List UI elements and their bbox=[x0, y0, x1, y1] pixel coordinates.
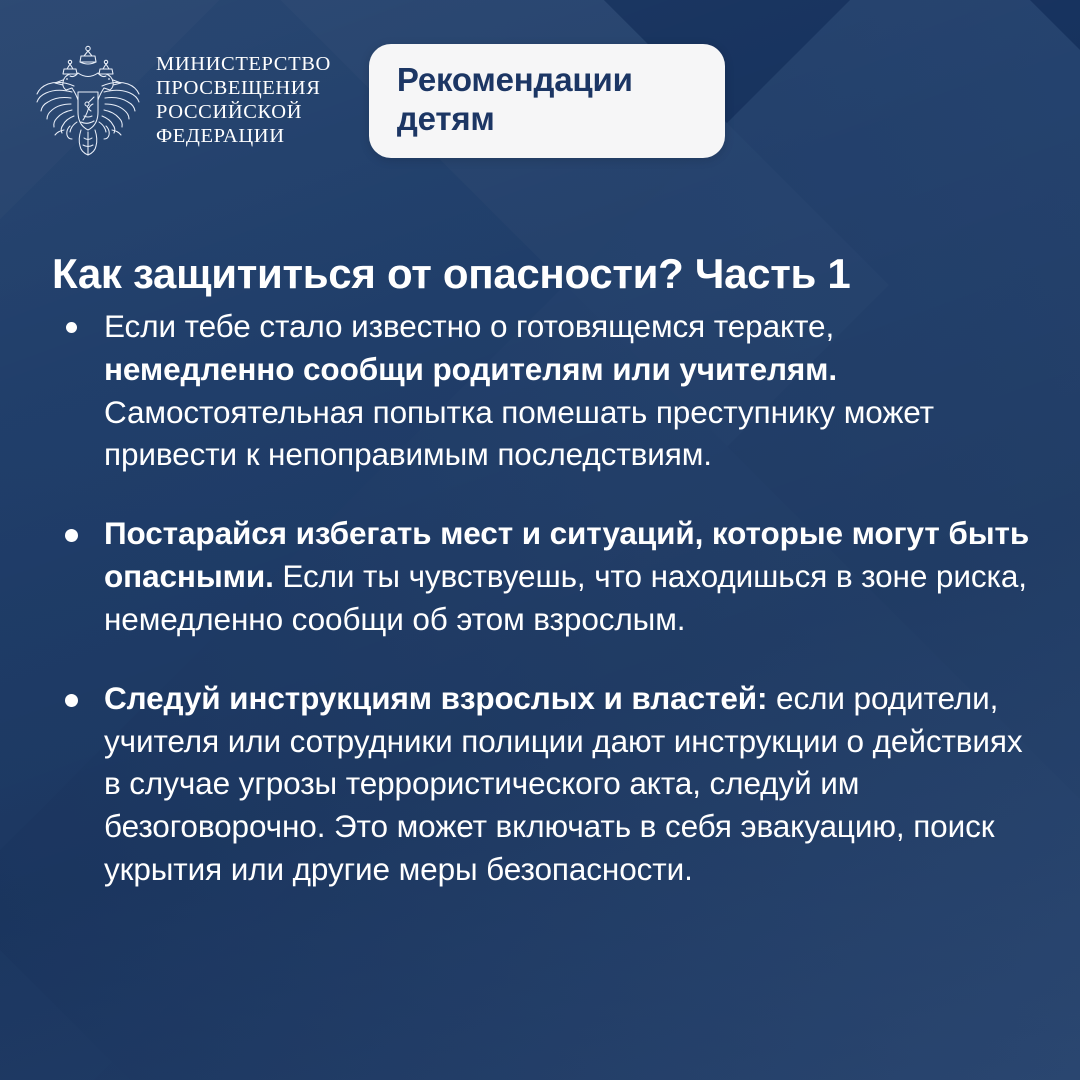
recommendations-list: Если тебе стало известно о готовящемся т… bbox=[52, 305, 1032, 891]
double-headed-eagle-emblem-icon bbox=[34, 42, 142, 160]
ministry-name-line-3: Российской bbox=[156, 101, 331, 125]
category-badge-label: Рекомендации детям bbox=[397, 61, 697, 138]
list-item: Следуй инструкциям взрослых и властей: е… bbox=[52, 677, 1032, 891]
poster-header: Министерство Просвещения Российской Феде… bbox=[34, 36, 1046, 166]
bullet-dot-icon bbox=[65, 529, 78, 542]
list-item-text: Постарайся избегать мест и ситуаций, кот… bbox=[104, 515, 1029, 637]
ministry-brand: Министерство Просвещения Российской Феде… bbox=[34, 42, 331, 160]
list-item-text: Если тебе стало известно о готовящемся т… bbox=[104, 308, 934, 472]
ministry-name-line-4: Федерации bbox=[156, 125, 331, 149]
poster-canvas: Министерство Просвещения Российской Феде… bbox=[0, 0, 1080, 1080]
list-item-text: Следуй инструкциям взрослых и властей: е… bbox=[104, 680, 1023, 887]
bullet-dot-icon bbox=[66, 322, 77, 333]
bullet-dot-icon bbox=[65, 694, 78, 707]
ministry-name: Министерство Просвещения Российской Феде… bbox=[156, 53, 331, 149]
list-item: Если тебе стало известно о готовящемся т… bbox=[52, 305, 1032, 476]
list-item: Постарайся избегать мест и ситуаций, кот… bbox=[52, 512, 1032, 640]
category-badge: Рекомендации детям bbox=[369, 44, 725, 158]
page-title: Как защититься от опасности? Часть 1 bbox=[52, 250, 1040, 298]
ministry-name-line-1: Министерство bbox=[156, 53, 331, 77]
ministry-name-line-2: Просвещения bbox=[156, 77, 331, 101]
